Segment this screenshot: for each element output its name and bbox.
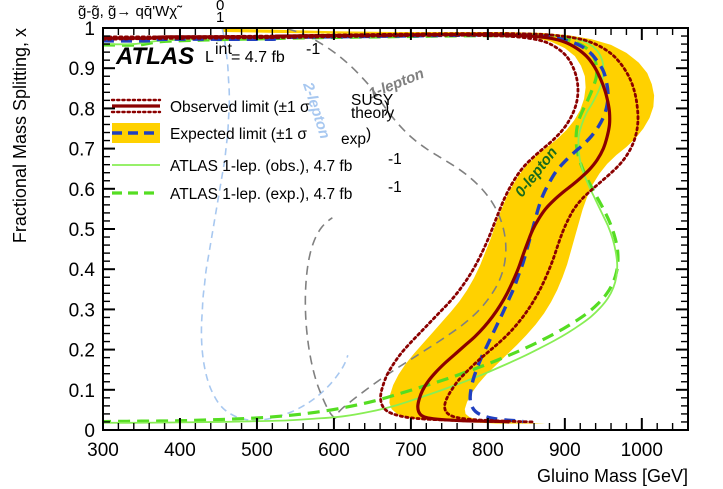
- y-tick-label: 0.5: [69, 220, 95, 241]
- x-tick-label: 400: [164, 440, 196, 461]
- y-tick-label: 0.2: [69, 341, 95, 362]
- x-tick-label: 600: [318, 440, 350, 461]
- y-tick-label: 0.8: [69, 99, 95, 120]
- legend-label-observed-tail: ): [384, 99, 389, 116]
- y-tick-label: 0.3: [69, 300, 95, 321]
- process-title-text: g̃-g̃, g̃→ qq̄'Wχ̃: [78, 3, 183, 20]
- y-tick-label: 0.4: [69, 260, 96, 281]
- legend-label-1lep-obs-sup: -1: [388, 151, 402, 168]
- process-title-sub: 1: [216, 9, 224, 26]
- legend-label-atlas-1lep-obs: ATLAS 1-lep. (obs.), 4.7 fb: [170, 158, 352, 175]
- y-axis-title: Fractional Mass Splitting, x: [10, 28, 30, 243]
- legend-label-1lep-exp-sup: -1: [388, 179, 402, 196]
- x-tick-label: 800: [472, 440, 504, 461]
- luminosity-value: = 4.7 fb: [231, 49, 285, 66]
- y-tick-label: 0.9: [69, 59, 95, 80]
- y-tick-label: 1: [84, 19, 95, 40]
- y-tick-label: 0: [84, 421, 95, 442]
- y-tick-label: 0.6: [69, 180, 95, 201]
- x-tick-label: 300: [87, 440, 119, 461]
- x-tick-label: 500: [241, 440, 273, 461]
- atlas-label: ATLAS: [115, 43, 194, 70]
- luminosity-sup: int: [215, 41, 232, 58]
- legend-label-observed-limit: Observed limit (±1 σ: [170, 99, 310, 116]
- luminosity-unit-sup: -1: [306, 41, 320, 58]
- legend-label-expected-limit: Expected limit (±1 σ: [170, 126, 307, 143]
- x-tick-label: 700: [395, 440, 427, 461]
- x-tick-label: 1000: [621, 440, 663, 461]
- process-title: g̃-g̃, g̃→ qq̄'Wχ̃01: [78, 0, 224, 26]
- legend-label-atlas-1lep-exp: ATLAS 1-lep. (exp.), 4.7 fb: [170, 186, 352, 203]
- legend-label-expected-sub: exp: [341, 131, 366, 148]
- x-axis-title: Gluino Mass [GeV]: [537, 466, 688, 486]
- legend-label-expected-tail: ): [366, 126, 371, 143]
- figure-canvas: 1-lepton2-lepton0-lepton3004005006007008…: [0, 0, 723, 489]
- y-tick-label: 0.7: [69, 140, 95, 161]
- luminosity-label: L: [205, 49, 214, 66]
- exclusion-limit-plot: 1-lepton2-lepton0-lepton3004005006007008…: [0, 0, 723, 489]
- x-tick-label: 900: [549, 440, 581, 461]
- y-tick-label: 0.1: [69, 381, 95, 402]
